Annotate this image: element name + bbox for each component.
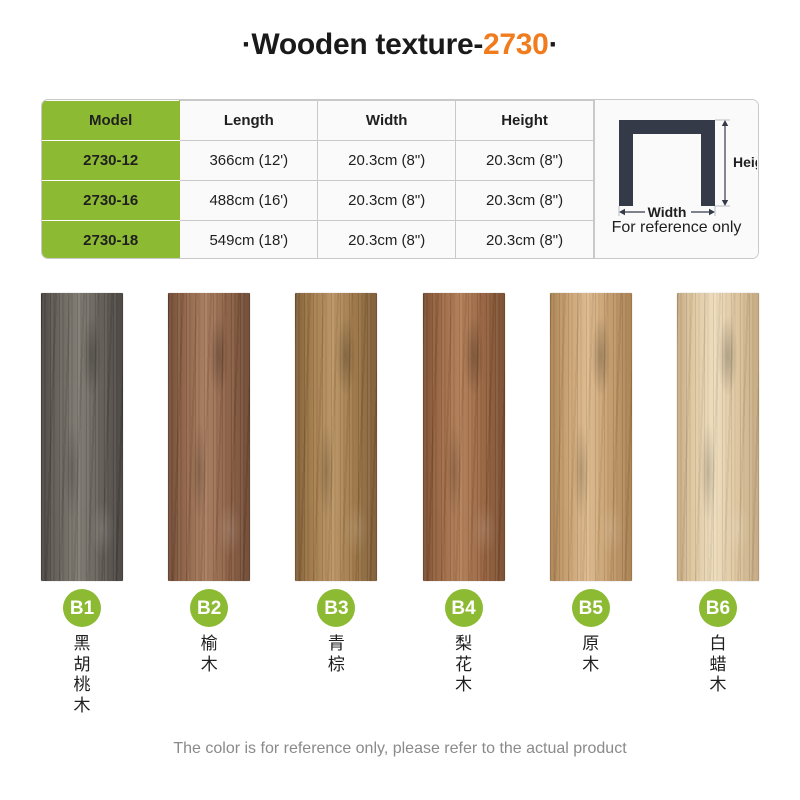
table-row: 2730-18 549cm (18') 20.3cm (8") 20.3cm (… (42, 221, 594, 260)
cell-length: 488cm (16') (180, 181, 318, 221)
height-arrow-bottom (721, 200, 727, 206)
swatch-label-b1[interactable]: B1 黑胡桃木 (41, 589, 123, 717)
column-header-model: Model (42, 101, 180, 141)
swatch-badge-b5[interactable]: B5 (572, 589, 610, 627)
width-dimension-label: Width (647, 204, 686, 218)
cell-width: 20.3cm (8") (318, 181, 456, 221)
wood-knot-texture (423, 293, 505, 581)
cell-height: 20.3cm (8") (456, 181, 594, 221)
cell-length: 366cm (12') (180, 141, 318, 181)
cell-width: 20.3cm (8") (318, 141, 456, 181)
width-arrow-left (619, 209, 625, 215)
cell-model: 2730-12 (42, 141, 180, 181)
height-dimension-label: Height (733, 154, 757, 170)
cell-height: 20.3cm (8") (456, 141, 594, 181)
specification-panel: Model Length Width Height 2730-12 366cm … (41, 99, 759, 259)
cell-length: 549cm (18') (180, 221, 318, 260)
wood-knot-texture (41, 293, 123, 581)
swatch-label-b5[interactable]: B5 原木 (550, 589, 632, 717)
u-channel-beam-diagram: Height Width (597, 106, 757, 218)
wood-knot-texture (550, 293, 632, 581)
swatch-label-b2[interactable]: B2 榆木 (168, 589, 250, 717)
swatch-label-row: B1 黑胡桃木 B2 榆木 B3 青棕 B4 梨花木 B5 原木 B6 白蜡木 (41, 589, 759, 717)
title-prefix: ·Wooden texture- (242, 28, 483, 61)
table-row: 2730-16 488cm (16') 20.3cm (8") 20.3cm (… (42, 181, 594, 221)
swatch-label-b6[interactable]: B6 白蜡木 (677, 589, 759, 717)
cell-height: 20.3cm (8") (456, 221, 594, 260)
swatch-name-b6: 白蜡木 (707, 634, 728, 696)
wood-plank-b3[interactable] (295, 293, 377, 581)
table-body: Model Length Width Height 2730-12 366cm … (42, 101, 594, 260)
swatch-badge-b4[interactable]: B4 (445, 589, 483, 627)
width-arrow-right (709, 209, 715, 215)
wood-plank-b6[interactable] (677, 293, 759, 581)
cell-width: 20.3cm (8") (318, 221, 456, 260)
swatch-badge-b6[interactable]: B6 (699, 589, 737, 627)
height-arrow-top (721, 120, 727, 126)
page-title: ·Wooden texture-2730· (0, 28, 800, 62)
swatch-label-b4[interactable]: B4 梨花木 (423, 589, 505, 717)
swatch-badge-b1[interactable]: B1 (63, 589, 101, 627)
specification-table: Model Length Width Height 2730-12 366cm … (42, 100, 594, 259)
wood-knot-texture (677, 293, 759, 581)
wood-plank-b2[interactable] (168, 293, 250, 581)
swatch-name-b2: 榆木 (199, 634, 220, 675)
reference-caption: For reference only (612, 219, 742, 237)
wood-swatch-row (41, 293, 759, 593)
wood-plank-b5[interactable] (550, 293, 632, 581)
wood-plank-b1[interactable] (41, 293, 123, 581)
title-suffix: · (549, 28, 559, 61)
wood-knot-texture (295, 293, 377, 581)
title-model-number: 2730 (483, 28, 549, 61)
disclaimer-text: The color is for reference only, please … (0, 740, 800, 758)
column-header-width: Width (318, 101, 456, 141)
table-row: 2730-12 366cm (12') 20.3cm (8") 20.3cm (… (42, 141, 594, 181)
swatch-label-b3[interactable]: B3 青棕 (295, 589, 377, 717)
beam-shape (619, 120, 715, 206)
swatch-name-b4: 梨花木 (453, 634, 474, 696)
reference-diagram-panel: Height Width For reference only (594, 100, 758, 258)
swatch-name-b3: 青棕 (326, 634, 347, 675)
column-header-height: Height (456, 101, 594, 141)
wood-knot-texture (168, 293, 250, 581)
product-spec-page: ·Wooden texture-2730· Model Length Width… (0, 0, 800, 800)
cell-model: 2730-18 (42, 221, 180, 260)
wood-plank-b4[interactable] (423, 293, 505, 581)
swatch-badge-b3[interactable]: B3 (317, 589, 355, 627)
cell-model: 2730-16 (42, 181, 180, 221)
swatch-badge-b2[interactable]: B2 (190, 589, 228, 627)
swatch-name-b5: 原木 (580, 634, 601, 675)
table-header-row: Model Length Width Height (42, 101, 594, 141)
column-header-length: Length (180, 101, 318, 141)
swatch-name-b1: 黑胡桃木 (71, 634, 92, 717)
